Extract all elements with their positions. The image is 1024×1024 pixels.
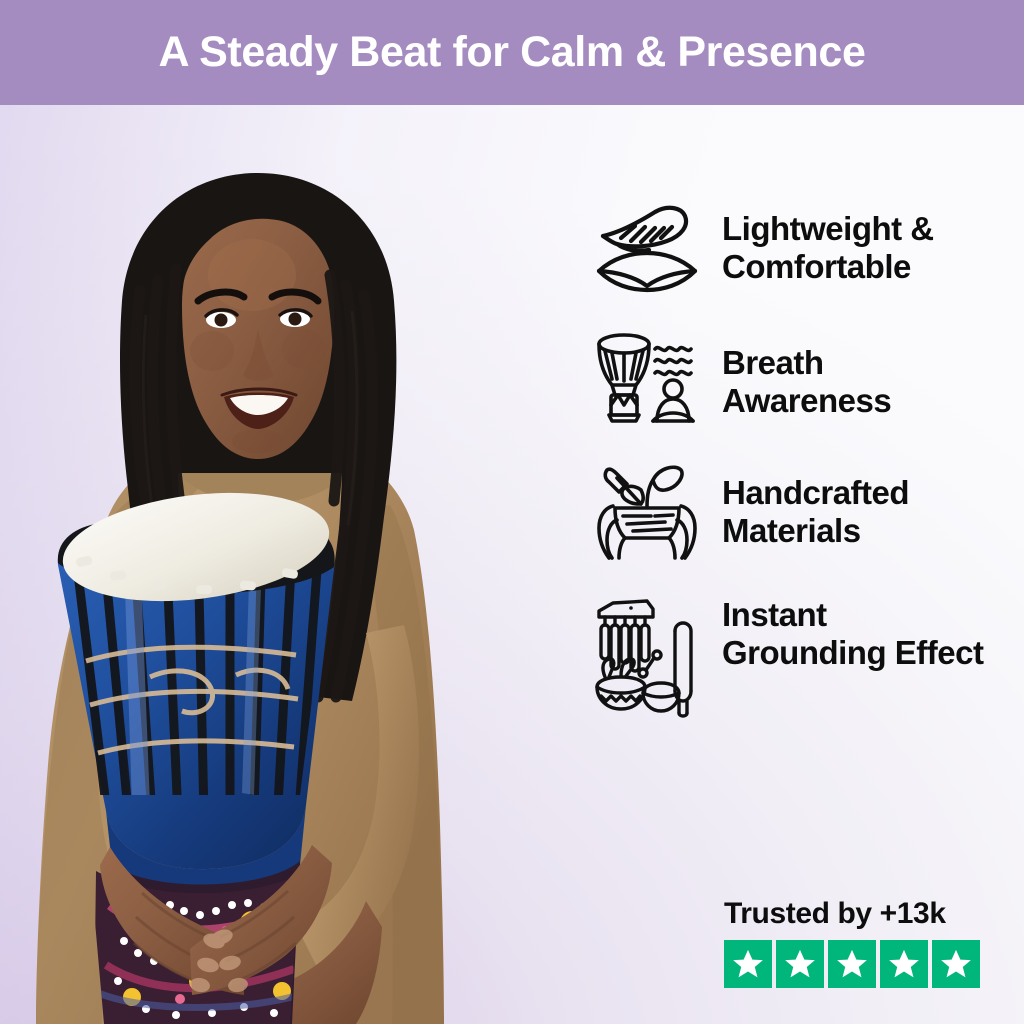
star-tile — [776, 940, 824, 988]
feather-on-cushion-icon — [588, 196, 706, 296]
djembe-breath-meditation-icon — [588, 328, 706, 428]
trust-badge: Trusted by +13k — [724, 897, 980, 988]
feature-label: Lightweight & Comfortable — [722, 196, 992, 286]
wind-chimes-singing-bowls-tuning-fork-icon — [588, 592, 706, 722]
star-tile — [880, 940, 928, 988]
feature-item-breath-awareness: Breath Awareness — [588, 328, 1000, 428]
model-with-djembe-photo — [0, 105, 620, 1024]
feature-item-lightweight-comfortable: Lightweight & Comfortable — [588, 196, 1000, 296]
header-banner: A Steady Beat for Calm & Presence — [0, 0, 1024, 105]
star-rating — [724, 940, 980, 988]
product-feature-graphic: A Steady Beat for Calm & Presence Li — [0, 0, 1024, 1024]
trust-label: Trusted by +13k — [724, 897, 980, 931]
star-tile — [932, 940, 980, 988]
feature-item-handcrafted-materials: Handcrafted Materials — [588, 460, 1000, 560]
feature-item-instant-grounding-effect: Instant Grounding Effect — [588, 592, 1000, 722]
feature-label: Breath Awareness — [722, 328, 992, 420]
feature-list: Lightweight & Comfortable — [588, 196, 1000, 754]
star-tile — [724, 940, 772, 988]
feature-label: Handcrafted Materials — [722, 460, 992, 550]
hands-holding-wood-sprout-icon — [588, 460, 706, 560]
banner-title: A Steady Beat for Calm & Presence — [159, 28, 866, 77]
star-tile — [828, 940, 876, 988]
feature-label: Instant Grounding Effect — [722, 592, 992, 672]
